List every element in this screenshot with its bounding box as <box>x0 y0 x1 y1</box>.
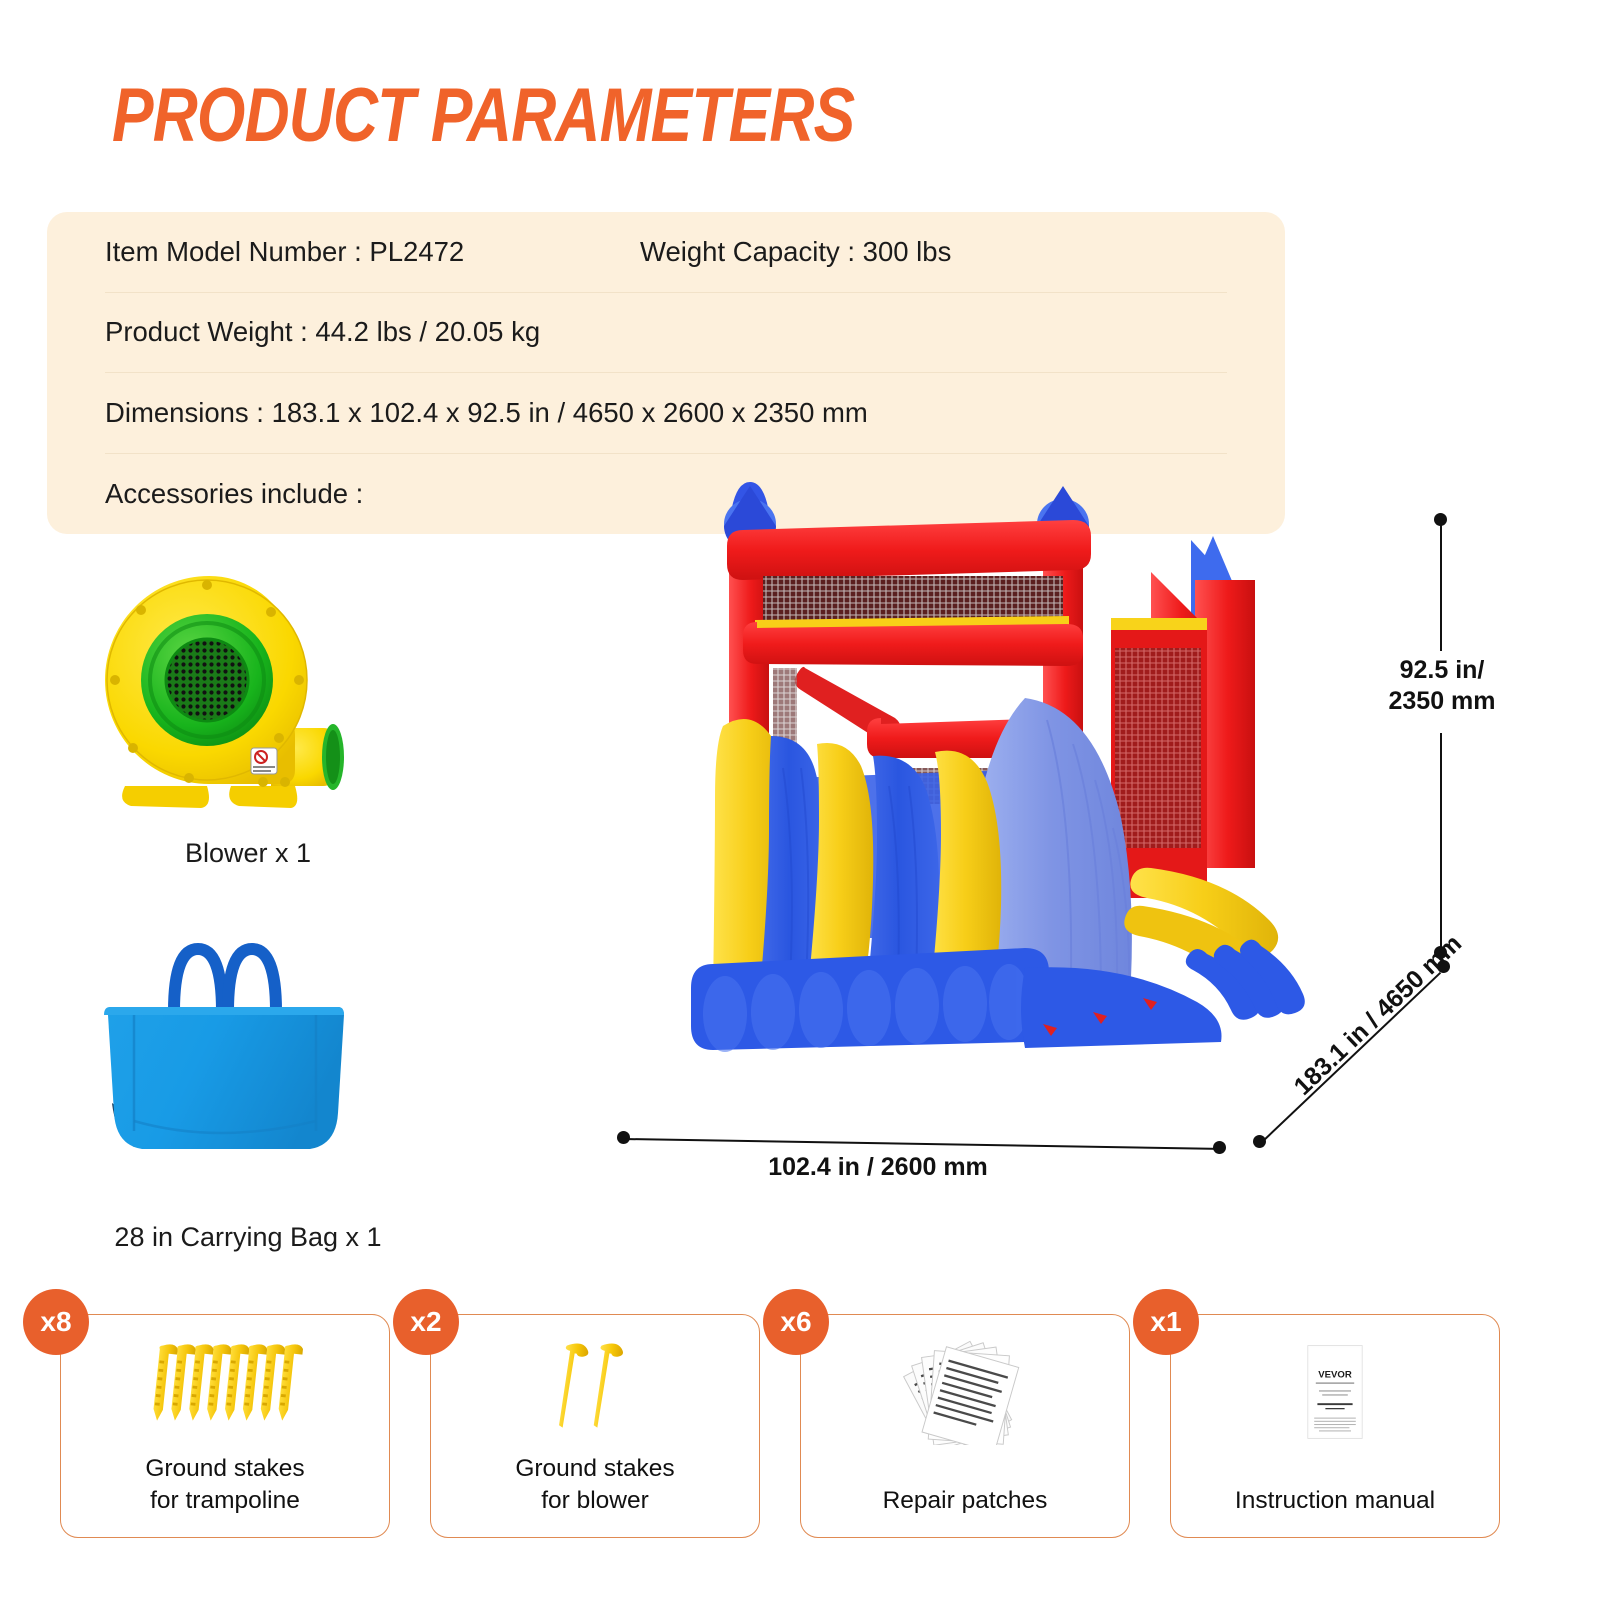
card-label: Ground stakes for trampoline <box>61 1453 389 1517</box>
accessory-card-ground-stakes-blower: x2 Ground stakes for blower <box>430 1314 760 1538</box>
spec-row: Item Model Number : PL2472 Weight Capaci… <box>105 212 1227 293</box>
spec-product-weight: Product Weight : 44.2 lbs / 20.05 kg <box>105 316 540 348</box>
dim-height-line2: 2350 mm <box>1352 686 1532 717</box>
page-title: PRODUCT PARAMETERS <box>112 72 854 159</box>
card-label-line1: Instruction manual <box>1171 1485 1499 1517</box>
dim-width-label: 102.4 in / 2600 mm <box>718 1152 1038 1183</box>
spec-dimensions: Dimensions : 183.1 x 102.4 x 92.5 in / 4… <box>105 397 868 429</box>
spec-weight-capacity: Weight Capacity : 300 lbs <box>640 236 951 268</box>
dim-height-label: 92.5 in/ 2350 mm <box>1352 655 1532 716</box>
spec-row: Dimensions : 183.1 x 102.4 x 92.5 in / 4… <box>105 373 1227 454</box>
ground-stakes-blower-icon <box>431 1333 759 1451</box>
dim-depth-near-dot <box>1253 1135 1266 1148</box>
spec-row: Product Weight : 44.2 lbs / 20.05 kg <box>105 293 1227 374</box>
spec-item-model-number: Item Model Number : PL2472 <box>105 236 640 268</box>
instruction-manual-icon: VEVOR <box>1171 1333 1499 1451</box>
dim-height-line1: 92.5 in/ <box>1352 655 1532 686</box>
accessory-card-instruction-manual: x1 VEVOR <box>1170 1314 1500 1538</box>
card-label-line2: for trampoline <box>61 1485 389 1517</box>
card-label-line2: for blower <box>431 1485 759 1517</box>
product-parameters-page: PRODUCT PARAMETERS Item Model Number : P… <box>0 0 1600 1600</box>
card-label: Instruction manual <box>1171 1485 1499 1517</box>
dim-width-line <box>624 1138 1218 1150</box>
dim-height-line-upper <box>1440 519 1442 651</box>
product-image-bounce-house <box>595 468 1315 1108</box>
card-label-line1: Repair patches <box>801 1485 1129 1517</box>
accessory-card-repair-patches: x6 <box>800 1314 1130 1538</box>
accessory-card-ground-stakes-trampoline: x8 <box>60 1314 390 1538</box>
carrying-bag-label: 28 in Carrying Bag x 1 <box>68 1222 428 1253</box>
blower-image <box>103 570 393 830</box>
dim-width-right-dot <box>1213 1141 1226 1154</box>
manual-brand: VEVOR <box>1318 1370 1352 1381</box>
carrying-bag-image <box>88 915 408 1185</box>
ground-stakes-trampoline-icon <box>61 1333 389 1451</box>
card-label: Ground stakes for blower <box>431 1453 759 1517</box>
blower-label: Blower x 1 <box>103 838 393 869</box>
card-label-line1: Ground stakes <box>431 1453 759 1485</box>
card-label-line1: Ground stakes <box>61 1453 389 1485</box>
repair-patches-icon <box>801 1333 1129 1451</box>
card-label: Repair patches <box>801 1485 1129 1517</box>
spec-accessories-include: Accessories include : <box>105 478 363 510</box>
dim-height-line-lower <box>1440 733 1442 952</box>
